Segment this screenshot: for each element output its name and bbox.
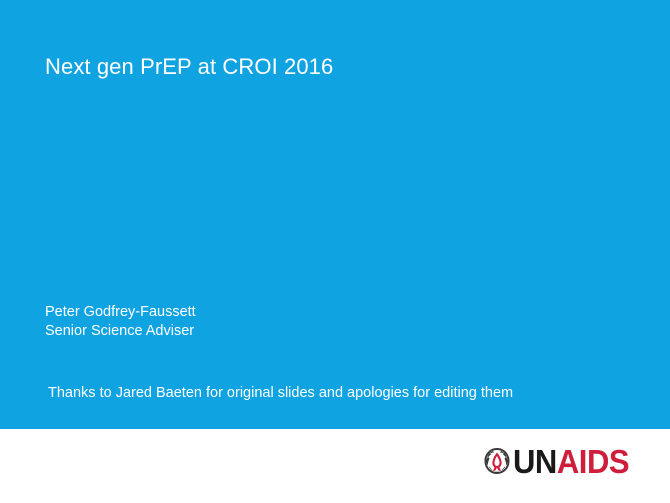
slide-title: Next gen PrEP at CROI 2016 <box>45 54 333 80</box>
slide-content-area: Next gen PrEP at CROI 2016 Peter Godfrey… <box>0 0 670 429</box>
unaids-ribbon-laurel-emblem-icon <box>482 446 512 476</box>
presenter-name: Peter Godfrey-Faussett <box>45 303 196 322</box>
presenter-block: Peter Godfrey-Faussett Senior Science Ad… <box>45 303 196 341</box>
presenter-role: Senior Science Adviser <box>45 322 196 341</box>
slide-footer: UNAIDS <box>0 429 670 503</box>
unaids-wordmark-un: UN <box>513 443 557 480</box>
unaids-wordmark-aids: AIDS <box>557 443 629 480</box>
presentation-slide: Next gen PrEP at CROI 2016 Peter Godfrey… <box>0 0 670 503</box>
acknowledgement-text: Thanks to Jared Baeten for original slid… <box>48 385 513 401</box>
unaids-logo: UNAIDS <box>482 444 637 478</box>
unaids-wordmark: UNAIDS <box>513 445 629 478</box>
